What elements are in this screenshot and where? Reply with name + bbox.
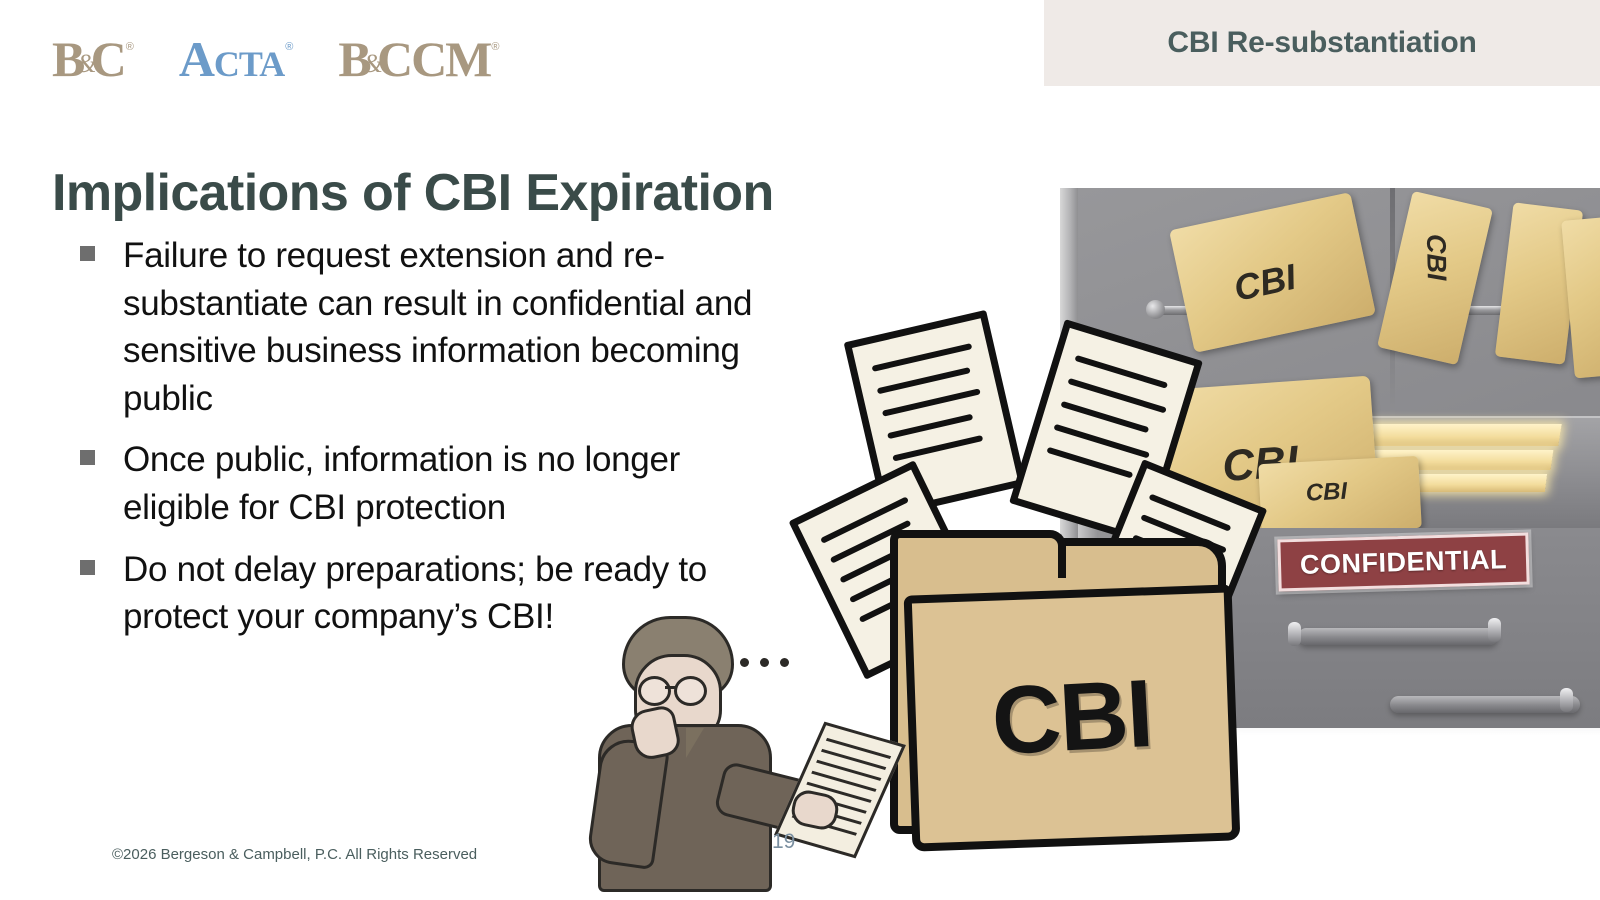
logo-row: B&C® ACTA® B&CCM®: [52, 22, 499, 84]
folder-front: CBI: [904, 584, 1241, 851]
logo-acta: ACTA®: [179, 34, 293, 84]
glasses-right-lens-icon: [674, 676, 707, 706]
glasses-left-lens-icon: [638, 676, 671, 706]
list-item: Failure to request extension and re-subs…: [80, 232, 770, 422]
glasses-bridge-icon: [665, 686, 676, 689]
big-folder-label: CBI: [990, 659, 1155, 777]
hanging-folder-label: CBI: [1230, 256, 1299, 310]
header-banner: CBI Re-substantiation: [1044, 0, 1600, 86]
bullet-text: Failure to request extension and re-subs…: [123, 232, 770, 422]
slide: CBI Re-substantiation B&C® ACTA® B&CCM® …: [0, 0, 1600, 900]
logo-bccm: B&CCM®: [338, 34, 498, 84]
logo-bc-ampersand: &: [76, 51, 96, 77]
list-item: Once public, information is no longer el…: [80, 436, 770, 531]
person-collar-right: [686, 728, 704, 758]
copyright-text: ©2026 Bergeson & Campbell, P.C. All Righ…: [112, 846, 477, 863]
page-number: 19: [772, 830, 795, 854]
hanging-folder: CBI: [1258, 456, 1422, 536]
thought-dots-icon: [740, 658, 789, 667]
cabinet-handle-post: [1560, 688, 1573, 712]
header-banner-title: CBI Re-substantiation: [1167, 26, 1476, 60]
confidential-stamp-label: CONFIDENTIAL: [1300, 544, 1508, 581]
logo-acta-registered-icon: ®: [285, 42, 293, 53]
bullet-text: Once public, information is no longer el…: [123, 436, 770, 531]
logo-acta-cta: CTA: [214, 46, 284, 82]
worried-person-illustration: [570, 616, 870, 886]
cabinet-handle-post: [1488, 618, 1501, 642]
page-title: Implications of CBI Expiration: [52, 163, 774, 223]
logo-bccm-ccm: CCM: [377, 34, 490, 84]
confidential-stamp: CONFIDENTIAL: [1277, 533, 1529, 592]
cabinet-handle: [1298, 628, 1498, 645]
folder-tab: [890, 530, 1066, 578]
big-cbi-folder: CBI: [880, 530, 1220, 830]
hanging-folder-label: CBI: [1420, 234, 1452, 281]
bullet-square-icon: [80, 560, 95, 575]
logo-bccm-ampersand: &: [363, 51, 383, 77]
logo-bccm-registered-icon: ®: [491, 42, 499, 53]
cabinet-handle: [1390, 696, 1580, 713]
hanging-folder-label: CBI: [1305, 478, 1348, 508]
cbi-illustration: CBI CBI CBI CBI CONFIDENTIAL: [770, 180, 1600, 880]
cabinet-handle-post: [1288, 622, 1301, 646]
bullet-square-icon: [80, 450, 95, 465]
bullet-square-icon: [80, 246, 95, 261]
bullet-list: Failure to request extension and re-subs…: [80, 232, 770, 655]
cabinet-rod-knob: [1146, 300, 1165, 319]
logo-bergeson-campbell: B&C®: [52, 34, 133, 84]
logo-bc-registered-icon: ®: [126, 42, 134, 53]
logo-acta-a: A: [179, 34, 214, 84]
